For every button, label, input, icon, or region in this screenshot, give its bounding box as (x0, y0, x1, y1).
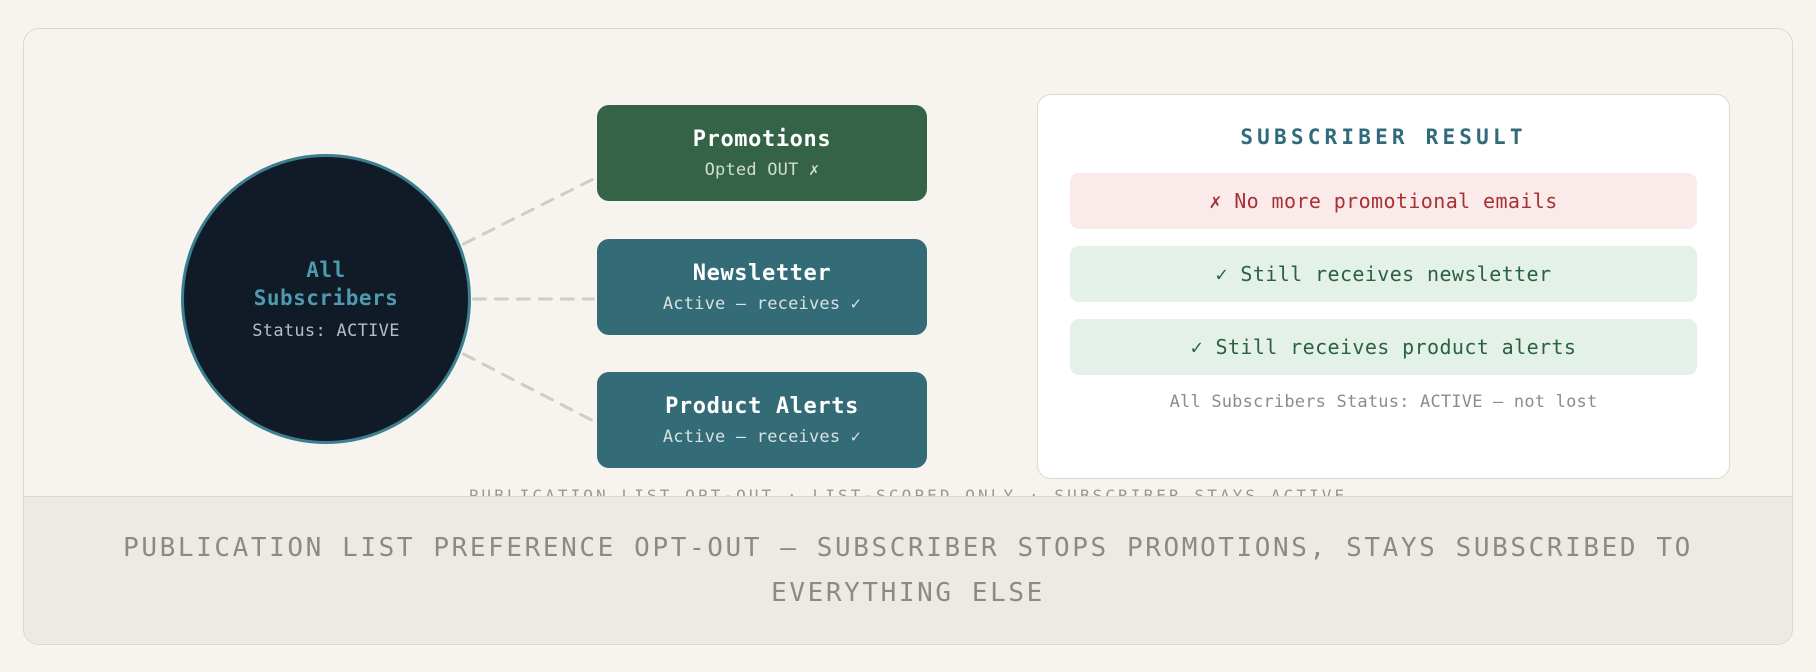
diagram-stage: All Subscribers Status: ACTIVE Promotion… (24, 29, 1792, 499)
channel-card-promotions: Promotions Opted OUT ✗ (597, 105, 927, 201)
result-row: ✓ Still receives product alerts (1070, 319, 1697, 375)
panel-note: All Subscribers Status: ACTIVE — not los… (1070, 392, 1697, 412)
connector-product-alerts (464, 354, 594, 421)
hub-title-line1: All (306, 258, 345, 282)
connector-promotions (464, 179, 594, 244)
panel-title: SUBSCRIBER RESULT (1070, 125, 1697, 149)
diagram-frame: All Subscribers Status: ACTIVE Promotion… (23, 28, 1793, 645)
result-row: ✓ Still receives newsletter (1070, 246, 1697, 302)
subscriber-result-panel: SUBSCRIBER RESULT ✗ No more promotional … (1037, 94, 1730, 479)
channel-subtitle: Active — receives ✓ (663, 294, 861, 314)
channel-subtitle: Active — receives ✓ (663, 427, 861, 447)
channel-title: Newsletter (693, 261, 831, 286)
channel-title: Product Alerts (665, 394, 859, 419)
channel-card-product-alerts: Product Alerts Active — receives ✓ (597, 372, 927, 468)
hub-status: Status: ACTIVE (252, 321, 400, 341)
footer-banner: PUBLICATION LIST PREFERENCE OPT-OUT — SU… (24, 496, 1792, 644)
all-subscribers-node: All Subscribers Status: ACTIVE (181, 154, 471, 444)
footer-text: PUBLICATION LIST PREFERENCE OPT-OUT — SU… (72, 526, 1744, 615)
hub-title-line2: Subscribers (254, 286, 399, 310)
hub-title: All Subscribers (254, 257, 399, 313)
channel-subtitle: Opted OUT ✗ (705, 160, 820, 180)
result-row: ✗ No more promotional emails (1070, 173, 1697, 229)
channel-title: Promotions (693, 127, 831, 152)
channel-card-newsletter: Newsletter Active — receives ✓ (597, 239, 927, 335)
